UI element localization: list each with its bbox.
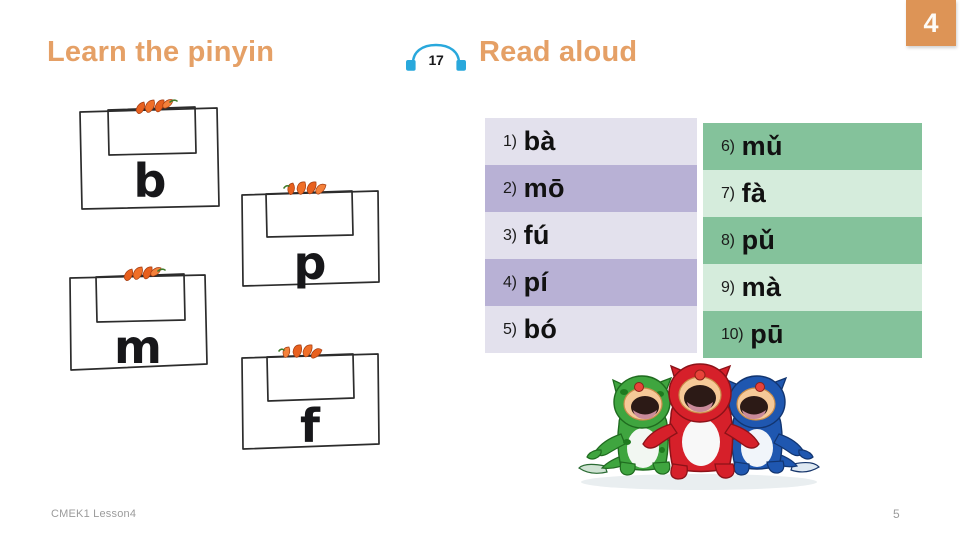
word-row[interactable]: 8) pǔ xyxy=(703,217,922,264)
word-syllable: mǔ xyxy=(742,131,783,162)
word-syllable: fú xyxy=(524,220,550,251)
word-index: 3) xyxy=(503,227,517,245)
word-syllable: pí xyxy=(524,267,549,298)
word-index: 1) xyxy=(503,133,517,151)
word-list-right-column: 6) mǔ 7) fà 8) pǔ 9) mà 10) pū xyxy=(703,123,922,358)
three-singing-cats-image xyxy=(567,358,831,490)
word-row[interactable]: 9) mà xyxy=(703,264,922,311)
word-row[interactable]: 1) bà xyxy=(485,118,697,165)
footer-page-number: 5 xyxy=(893,507,900,521)
word-row[interactable]: 6) mǔ xyxy=(703,123,922,170)
word-syllable: mō xyxy=(524,173,565,204)
word-index: 2) xyxy=(503,180,517,198)
letter-card-b[interactable]: b xyxy=(78,100,223,213)
page-title-learn-pinyin: Learn the pinyin xyxy=(47,36,274,69)
word-row[interactable]: 3) fú xyxy=(485,212,697,259)
word-row[interactable]: 7) fà xyxy=(703,170,922,217)
page-title-read-aloud: Read aloud xyxy=(479,36,637,69)
footer-course-label: CMEK1 Lesson4 xyxy=(51,508,136,520)
audio-track-number: 17 xyxy=(405,52,467,68)
word-syllable: pū xyxy=(750,319,784,350)
word-syllable: mà xyxy=(742,272,782,303)
letter-card-glyph: m xyxy=(114,320,162,374)
audio-track-indicator[interactable]: 17 xyxy=(405,43,467,79)
word-syllable: pǔ xyxy=(742,225,776,256)
word-index: 7) xyxy=(721,185,735,203)
word-index: 10) xyxy=(721,326,743,344)
word-index: 6) xyxy=(721,138,735,156)
letter-card-f[interactable]: f xyxy=(240,348,382,454)
letter-card-glyph: p xyxy=(294,236,327,290)
letter-card-glyph: b xyxy=(134,154,167,208)
letter-card-m[interactable]: m xyxy=(68,270,210,376)
word-index: 9) xyxy=(721,279,735,297)
word-index: 4) xyxy=(503,274,517,292)
word-list-left-column: 1) bà 2) mō 3) fú 4) pí 5) bó xyxy=(485,118,697,353)
word-syllable: bó xyxy=(524,314,558,345)
chapter-number-badge: 4 xyxy=(906,0,956,46)
slide-canvas: 4 Learn the pinyin Read aloud 17 b xyxy=(0,0,960,540)
word-row[interactable]: 4) pí xyxy=(485,259,697,306)
letter-card-glyph: f xyxy=(300,399,321,453)
word-row[interactable]: 2) mō xyxy=(485,165,697,212)
word-syllable: fà xyxy=(742,178,767,209)
letter-card-p[interactable]: p xyxy=(240,185,382,291)
word-index: 8) xyxy=(721,232,735,250)
word-row[interactable]: 10) pū xyxy=(703,311,922,358)
word-row[interactable]: 5) bó xyxy=(485,306,697,353)
word-index: 5) xyxy=(503,321,517,339)
word-syllable: bà xyxy=(524,126,556,157)
